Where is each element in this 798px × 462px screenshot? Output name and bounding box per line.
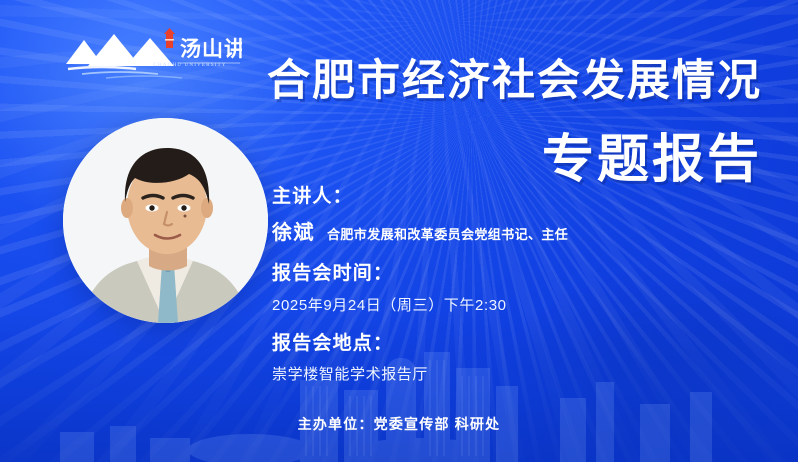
time-value: 2025年9月24日（周三）下午2:30 [272,294,772,315]
event-details-block: 主讲人： 徐斌 合肥市发展和改革委员会党组书记、主任 报告会时间： 2025年9… [272,186,772,384]
speaker-name: 徐斌 [272,216,315,245]
speaker-portrait-avatar [63,118,268,323]
organizer-footer: 主办单位：党委宣传部 科研处 [0,414,798,434]
headline-line-1: 合肥市经济社会发展情况 [267,60,762,103]
svg-text:汤山讲坛: 汤山讲坛 [180,37,242,61]
time-label: 报告会时间： [272,263,772,286]
place-value: 崇学楼智能学术报告厅 [272,363,772,384]
speaker-row: 徐斌 合肥市发展和改革委员会党组书记、主任 [272,216,772,245]
headline-line-2: 专题报告 [542,134,762,186]
speaker-title: 合肥市发展和改革委员会党组书记、主任 [327,224,568,243]
place-label: 报告会地点： [272,333,772,356]
poster-canvas: 汤山讲坛 CHAOHU UNIVERSITY 合肥市经济社会发展情况 专题报告 [0,0,798,462]
logo-english-text: CHAOHU UNIVERSITY [144,62,236,68]
speaker-label: 主讲人： [272,186,772,209]
chaohu-university-logo: 汤山讲坛 CHAOHU UNIVERSITY [62,22,242,80]
